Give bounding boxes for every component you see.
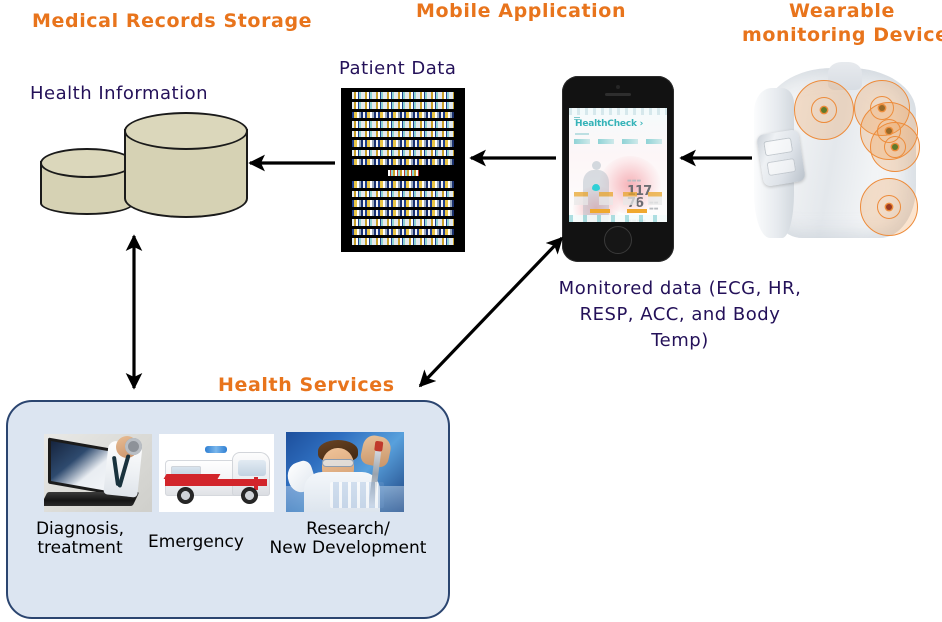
service-label-emergency-line-1: Emergency [136,533,256,552]
arrow-phone-to-services [420,238,562,386]
service-image-telemedicine [44,434,152,512]
service-label-telemedicine: Diagnosis, treatment [16,520,144,558]
service-label-telemedicine-line-1: Diagnosis, [16,520,144,539]
service-label-research: Research/ New Development [258,520,438,558]
health-services-container: Diagnosis, treatment Emergency [6,400,450,619]
service-label-research-line-1: Research/ [258,520,438,539]
service-label-telemedicine-line-2: treatment [16,539,144,558]
service-image-emergency [159,434,274,512]
diagram-canvas: Medical Records Storage Mobile Applicati… [0,0,942,622]
service-image-research [286,432,404,512]
service-label-emergency: Emergency [136,533,256,552]
service-label-research-line-2: New Development [258,539,438,558]
